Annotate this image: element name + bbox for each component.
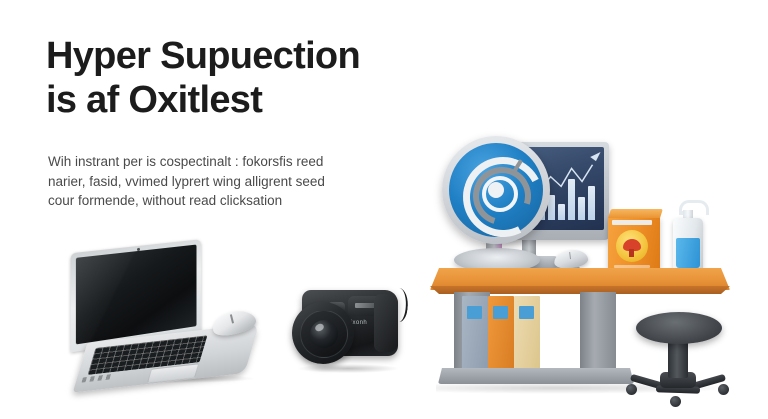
lens-mid-ring: [300, 310, 348, 358]
lens-glass: [310, 320, 338, 348]
product-box-footer-bar: [614, 265, 650, 268]
orange-product-box: [608, 216, 660, 272]
product-box-emblem-icon: [623, 239, 641, 251]
stool-seat: [636, 312, 722, 344]
stool-caster: [718, 384, 729, 395]
bottle-liquid: [676, 238, 700, 268]
bottle-body: [673, 218, 703, 272]
body-copy-line-3: cour formende, without read clicksation: [48, 191, 420, 211]
silver-laptop-photo: [62, 246, 258, 386]
headline-line-2: is af Oxitlest: [46, 78, 476, 122]
scanner-face: [449, 143, 543, 237]
camera-lens: [292, 302, 354, 364]
desk-mouse: [553, 248, 589, 270]
desk-leg-right: [580, 292, 616, 376]
stool-caster: [670, 396, 681, 407]
product-box-lid: [608, 209, 663, 218]
list-item: [514, 296, 540, 376]
list-item: [462, 296, 488, 376]
headline-line-1: Hyper Supuection: [46, 34, 476, 78]
camera-shadow: [298, 364, 398, 373]
dslr-camera-photo: Nixonh: [280, 268, 404, 376]
binder-label: [519, 306, 534, 319]
laptop-display: [76, 245, 197, 345]
circular-scanner-device: [442, 136, 550, 244]
page-title: Hyper Supuection is af Oxitlest: [46, 34, 476, 122]
body-copy-line-1: Wih instrant per is cospectinalt : fokor…: [48, 152, 420, 172]
product-box-label: [616, 230, 648, 262]
lens-reflection: [314, 322, 325, 332]
screen-glare: [76, 245, 197, 345]
body-copy-line-2: narier, fasid, vvimed lyprert wing allig…: [48, 172, 420, 192]
target-center-dot-icon: [488, 182, 504, 198]
product-box-strip: [612, 220, 652, 225]
camera-grip: [374, 294, 398, 352]
stool-caster: [626, 384, 637, 395]
pump-bottle: [673, 200, 703, 272]
laptop-ports: [81, 374, 113, 383]
desk-base-platform: [438, 368, 634, 384]
binder-label: [493, 306, 508, 319]
list-item: [488, 296, 514, 376]
body-copy: Wih instrant per is cospectinalt : fokor…: [48, 152, 420, 211]
binder-label: [467, 306, 482, 319]
office-workstation-illustration: [430, 130, 760, 410]
stool-post: [668, 338, 688, 378]
promo-banner: Hyper Supuection is af Oxitlest Wih inst…: [0, 0, 768, 419]
